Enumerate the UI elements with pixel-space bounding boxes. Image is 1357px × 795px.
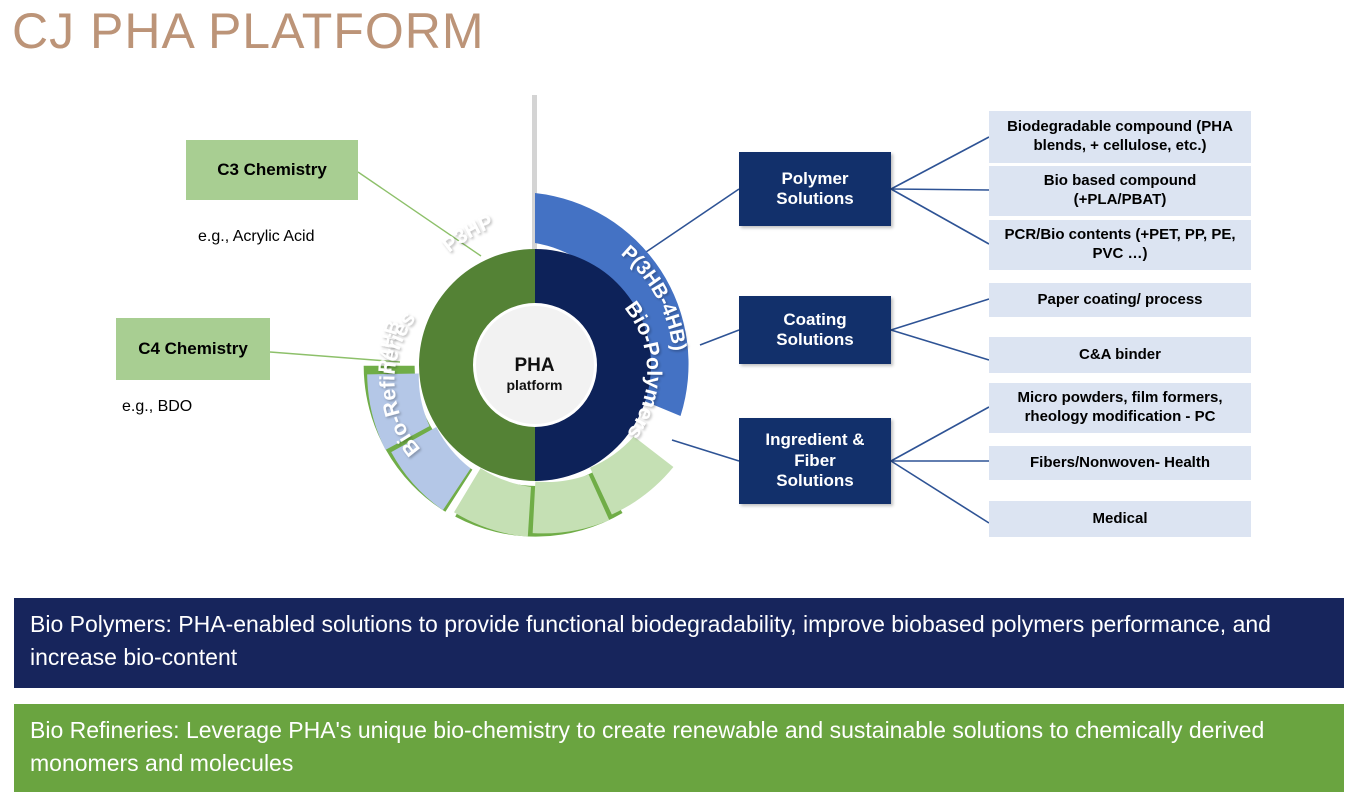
donut-hub-label: PHA platform — [482, 355, 587, 393]
connector-coating-2 — [891, 330, 989, 360]
leaf-box-ingredient-3[interactable]: Medical — [989, 501, 1251, 537]
donut-label-p3hp: P3HP — [439, 211, 496, 257]
leaf-box-polymer-3[interactable]: PCR/Bio contents (+PET, PP, PE, PVC …) — [989, 220, 1251, 270]
leaf-box-polymer-1[interactable]: Biodegradable compound (PHA blends, + ce… — [989, 111, 1251, 163]
solution-box-coating[interactable]: CoatingSolutions — [739, 296, 891, 364]
chemistry-note-c3: e.g., Acrylic Acid — [198, 228, 315, 246]
solution-box-polymer-label: PolymerSolutions — [776, 169, 853, 210]
solution-box-ingredient-fiber[interactable]: Ingredient &FiberSolutions — [739, 418, 891, 504]
connector-polymer-2 — [891, 189, 989, 190]
leaf-box-ingredient-1[interactable]: Micro powders, film formers, rheology mo… — [989, 383, 1251, 433]
connector-coating-1 — [891, 299, 989, 330]
chemistry-note-c4: e.g., BDO — [122, 398, 192, 416]
page-title: CJ PHA PLATFORM — [12, 2, 484, 60]
solution-box-polymer[interactable]: PolymerSolutions — [739, 152, 891, 226]
chemistry-box-c4-label: C4 Chemistry — [138, 339, 248, 359]
chemistry-box-c3[interactable]: C3 Chemistry — [186, 140, 358, 200]
chemistry-box-c3-label: C3 Chemistry — [217, 160, 327, 180]
banner-bio-polymers: Bio Polymers: PHA-enabled solutions to p… — [14, 598, 1344, 688]
chemistry-box-c4[interactable]: C4 Chemistry — [116, 318, 270, 380]
leaf-box-coating-1[interactable]: Paper coating/ process — [989, 283, 1251, 317]
connector-polymer-1 — [891, 137, 989, 189]
connector-ingredient-3 — [891, 461, 989, 523]
donut-hub-title: PHA — [482, 355, 587, 377]
connector-polymer-3 — [891, 189, 989, 244]
solution-box-coating-label: CoatingSolutions — [776, 310, 853, 351]
leaf-box-ingredient-2[interactable]: Fibers/Nonwoven- Health — [989, 446, 1251, 480]
connector-ingredient-1 — [891, 407, 989, 461]
solution-box-ingredient-fiber-label: Ingredient &FiberSolutions — [765, 430, 864, 491]
banner-bio-refineries: Bio Refineries: Leverage PHA's unique bi… — [14, 704, 1344, 792]
leaf-box-coating-2[interactable]: C&A binder — [989, 337, 1251, 373]
donut-hub-subtitle: platform — [482, 377, 587, 393]
leaf-box-polymer-2[interactable]: Bio based compound (+PLA/PBAT) — [989, 166, 1251, 216]
